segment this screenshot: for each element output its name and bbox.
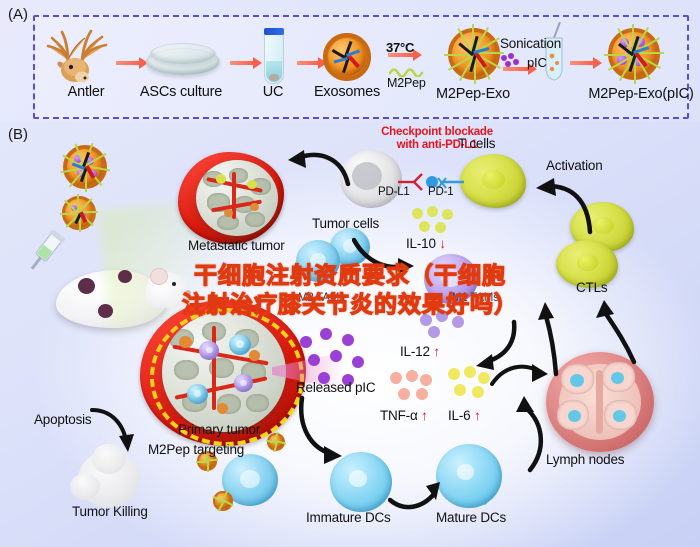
step-m2pep-exo-pic: M2Pep-Exo(pIC) xyxy=(588,18,698,102)
tumor-cells-label: Tumor cells xyxy=(312,216,379,231)
il12-up-arrow: ↑ xyxy=(433,344,440,359)
panel-b: Metastatic tumor Primary tu xyxy=(0,122,700,547)
arrow-to-ctls-right xyxy=(592,300,644,373)
il12-label: IL-12 ↑ xyxy=(400,344,440,359)
pic-cluster-icon xyxy=(500,53,524,74)
immature-dcs-label: Immature DCs xyxy=(306,510,391,525)
t-cells-label: T cells xyxy=(458,136,495,151)
m2-tams-label: M2 TAMs xyxy=(298,292,345,304)
exosome-particle-icon xyxy=(212,490,234,512)
arrow-apoptosis xyxy=(88,404,140,463)
deer-antler-icon xyxy=(38,26,134,84)
apoptosis-label: Apoptosis xyxy=(34,412,92,427)
il10-down-arrow: ↓ xyxy=(439,236,446,251)
arrow-mature-dc-to-lymph xyxy=(496,394,552,481)
il6-label: IL-6 ↑ xyxy=(448,408,481,423)
primary-tumor-label: Primary tumor xyxy=(178,422,260,437)
pdl1-label: PD-L1 xyxy=(378,186,410,198)
tnfa-label: TNF-α ↑ xyxy=(380,408,428,423)
arrow-pic-to-immature-dc xyxy=(296,394,356,471)
syringe-icon xyxy=(22,230,68,287)
mouse-tumor-spot xyxy=(98,304,113,318)
pic-label: pIC xyxy=(527,55,547,70)
step-exosomes: Exosomes xyxy=(302,22,392,100)
panel-a: (A) xyxy=(0,0,700,122)
arrow-tumor-to-tumorcells xyxy=(282,146,354,195)
primary-tumor-mass xyxy=(162,312,286,432)
arrow-to-lymph-nodes xyxy=(490,360,552,399)
mature-dcs-label: Mature DCs xyxy=(436,510,506,525)
step-asc-caption: ASCs culture xyxy=(126,84,236,100)
arrow-activation xyxy=(528,174,598,243)
exosome-icon xyxy=(302,22,392,84)
step-uc-caption: UC xyxy=(240,84,306,100)
scientific-figure: (A) xyxy=(0,0,700,547)
m1-tams-label: M1 TAMs xyxy=(452,292,499,304)
m2pep-targeting-label: M2Pep targeting xyxy=(148,442,244,457)
released-pic-molecules xyxy=(300,328,370,384)
exosome-particle-icon xyxy=(266,432,286,452)
tumor-killing-label: Tumor Killing xyxy=(72,504,148,519)
exosome-peptide-icon xyxy=(418,18,528,86)
mouse-tumor-spot xyxy=(78,278,95,294)
mouse-tumor-spot xyxy=(118,270,132,283)
step-exosomes-caption: Exosomes xyxy=(302,84,392,100)
mouse-ear xyxy=(150,268,168,285)
sonication-label: Sonication xyxy=(500,36,561,51)
step-m2pep-exo-pic-caption: M2Pep-Exo(pIC) xyxy=(584,86,698,102)
exosome-loaded-icon xyxy=(588,18,698,86)
exosome-particle-icon xyxy=(60,142,110,192)
petri-dish-icon xyxy=(126,26,236,84)
pd1-label: PD-1 xyxy=(428,186,453,198)
activation-label: Activation xyxy=(546,158,603,173)
m2-tam-cell xyxy=(296,240,340,282)
il10-molecules xyxy=(412,206,458,236)
mouse-nose xyxy=(185,290,191,295)
step-m2pep-exo-caption: M2Pep-Exo xyxy=(418,86,528,102)
exosome-particle-icon xyxy=(60,194,98,232)
tnfa-molecules xyxy=(390,370,440,404)
panel-a-label: (A) xyxy=(8,6,28,23)
temperature-label: 37°C xyxy=(386,40,414,55)
ctls-label: CTLs xyxy=(576,280,607,295)
il6-up-arrow: ↑ xyxy=(474,408,481,423)
centrifuge-tube-icon xyxy=(240,22,306,84)
tnfa-up-arrow: ↑ xyxy=(421,408,428,423)
mouse-eye xyxy=(172,282,176,286)
m2pep-label: M2Pep xyxy=(387,76,426,90)
metastatic-tumor-mass xyxy=(196,160,278,236)
metastatic-tumor-label: Metastatic tumor xyxy=(188,238,285,253)
il10-label: IL-10 ↓ xyxy=(406,236,446,251)
step-asc-culture: ASCs culture xyxy=(126,26,236,100)
lymph-nodes-label: Lymph nodes xyxy=(546,452,624,467)
released-pic-label: Released pIC xyxy=(296,380,375,395)
panel-b-label: (B) xyxy=(8,126,28,143)
step-antler-caption: Antler xyxy=(38,84,134,100)
